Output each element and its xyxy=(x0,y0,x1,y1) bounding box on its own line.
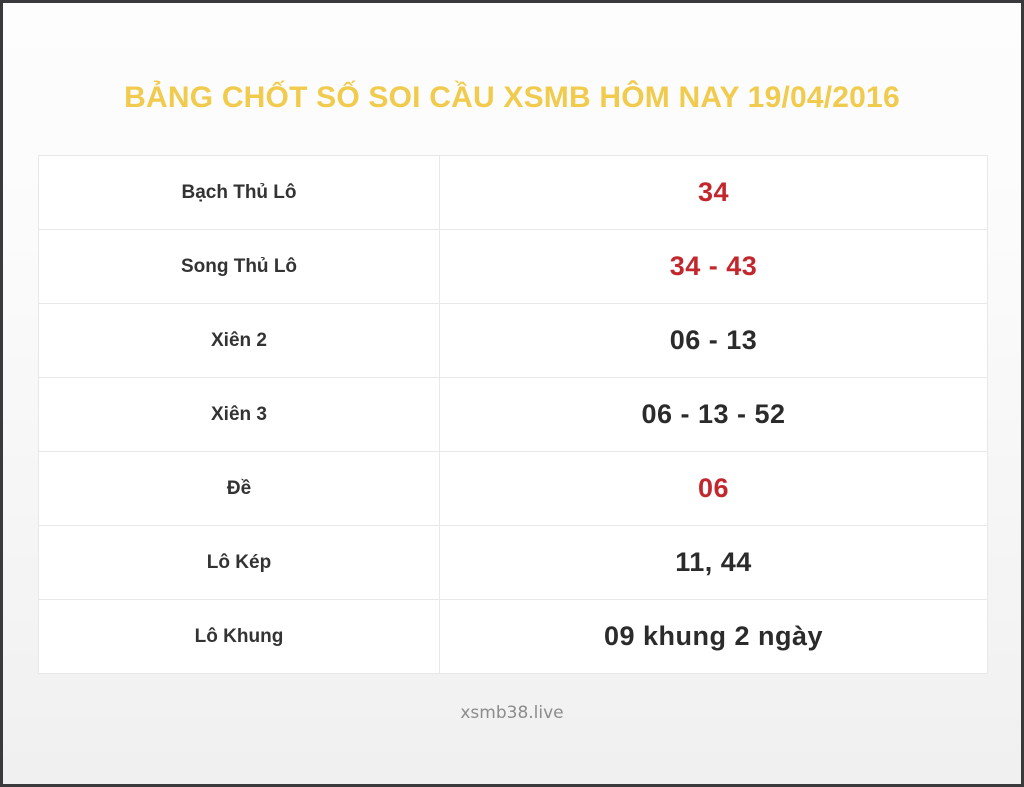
row-label: Song Thủ Lô xyxy=(39,230,440,304)
row-value: 06 - 13 - 52 xyxy=(440,378,988,452)
page-frame: BẢNG CHỐT SỐ SOI CẦU XSMB HÔM NAY 19/04/… xyxy=(3,3,1021,784)
table-row: Lô Khung 09 khung 2 ngày xyxy=(39,600,988,674)
row-label: Đề xyxy=(39,452,440,526)
table-row: Xiên 3 06 - 13 - 52 xyxy=(39,378,988,452)
table-row: Xiên 2 06 - 13 xyxy=(39,304,988,378)
row-label: Bạch Thủ Lô xyxy=(39,156,440,230)
page-title: BẢNG CHỐT SỐ SOI CẦU XSMB HÔM NAY 19/04/… xyxy=(3,81,1021,115)
row-value: 34 xyxy=(440,156,988,230)
row-label: Lô Kép xyxy=(39,526,440,600)
table-body: Bạch Thủ Lô 34 Song Thủ Lô 34 - 43 Xiên … xyxy=(39,156,988,674)
row-value: 06 - 13 xyxy=(440,304,988,378)
row-value: 34 - 43 xyxy=(440,230,988,304)
row-value: 09 khung 2 ngày xyxy=(440,600,988,674)
table-row: Đề 06 xyxy=(39,452,988,526)
table-row: Song Thủ Lô 34 - 43 xyxy=(39,230,988,304)
lottery-prediction-table: Bạch Thủ Lô 34 Song Thủ Lô 34 - 43 Xiên … xyxy=(38,155,988,674)
footer-site-name: xsmb38.live xyxy=(3,703,1021,723)
table-row: Lô Kép 11, 44 xyxy=(39,526,988,600)
table-row: Bạch Thủ Lô 34 xyxy=(39,156,988,230)
row-value: 06 xyxy=(440,452,988,526)
row-label: Xiên 2 xyxy=(39,304,440,378)
row-value: 11, 44 xyxy=(440,526,988,600)
row-label: Xiên 3 xyxy=(39,378,440,452)
row-label: Lô Khung xyxy=(39,600,440,674)
